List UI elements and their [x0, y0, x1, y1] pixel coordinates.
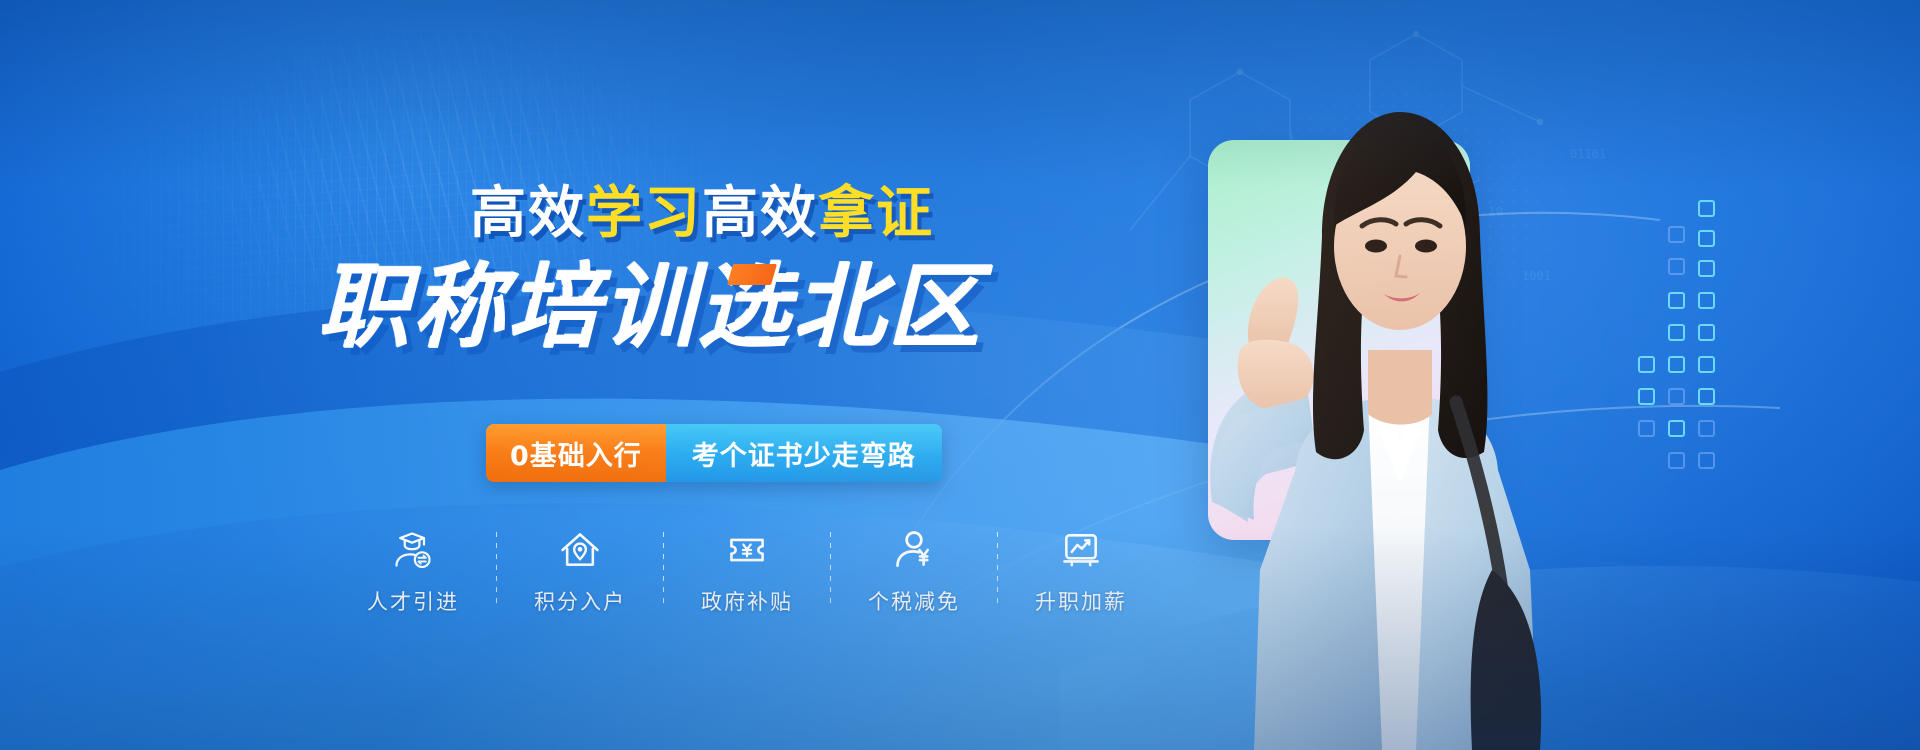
feature-label: 升职加薪: [1035, 586, 1127, 616]
feature-label: 积分入户: [534, 586, 626, 616]
sub-badge: 0基础入行 考个证书少走弯路: [486, 424, 942, 482]
headline-seg-1: 高效: [470, 181, 586, 246]
feature-label: 人才引进: [367, 586, 459, 616]
feature-item-subsidy[interactable]: 政府补贴: [664, 528, 830, 616]
person-yuan-icon: [892, 528, 936, 572]
headline-seg-4: 拿证: [818, 181, 934, 246]
feature-item-hukou[interactable]: 积分入户: [497, 528, 663, 616]
banner-copy: 高效学习高效拿证 职称培训选北区 0基础入行 考个证书少走弯路: [0, 0, 1180, 750]
feature-item-talent[interactable]: 人才引进: [330, 528, 496, 616]
promo-banner: 2.19 01101 1001: [0, 0, 1920, 750]
house-pin-icon: [558, 528, 602, 572]
feature-item-tax[interactable]: 个税减免: [831, 528, 997, 616]
headline-seg-2: 学习: [586, 181, 702, 246]
headline-line-1: 高效学习高效拿证: [470, 186, 934, 242]
headline-seg-3: 高效: [702, 181, 818, 246]
orange-accent-stroke: [727, 264, 777, 285]
feature-label: 政府补贴: [701, 586, 793, 616]
graduate-person-icon: [391, 528, 435, 572]
presenter-illustration: [1100, 50, 1660, 750]
feature-item-promotion[interactable]: 升职加薪: [998, 528, 1164, 616]
feature-label: 个税减免: [868, 586, 960, 616]
feature-list: 人才引进 积分入户: [330, 528, 1164, 616]
ticket-yuan-icon: [725, 528, 769, 572]
badge-left-label: 0基础入行: [486, 424, 666, 482]
headline-line-2: 职称培训选北区: [318, 262, 983, 354]
headline-line-2-wrap: 职称培训选北区: [318, 262, 983, 354]
chart-board-icon: [1059, 528, 1103, 572]
badge-right-label: 考个证书少走弯路: [666, 424, 942, 482]
